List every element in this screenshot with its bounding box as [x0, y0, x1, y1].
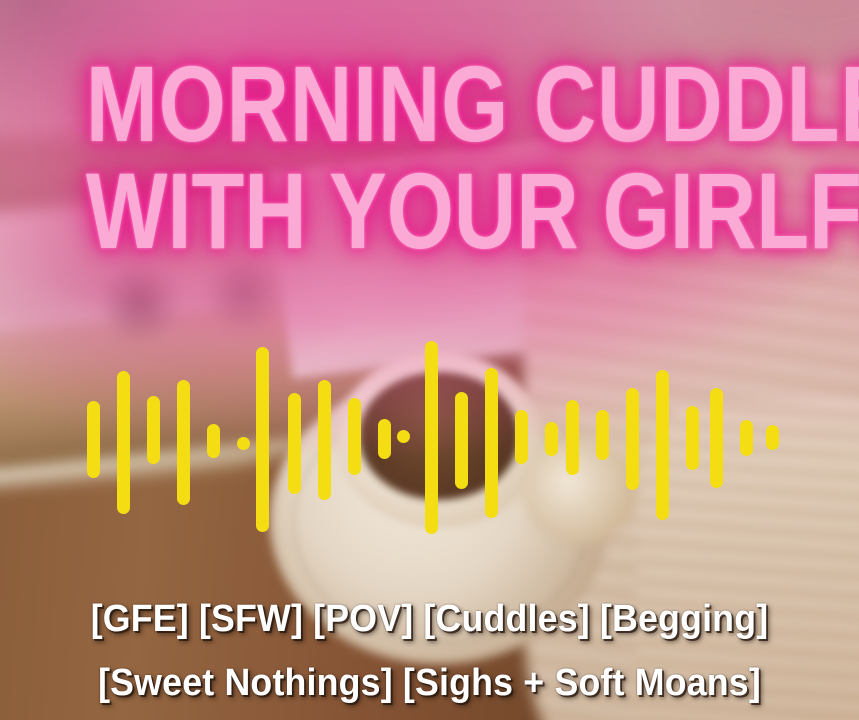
tag-line-2: [Sweet Nothings] [Sighs + Soft Moans]: [26, 664, 833, 702]
title-line-2: WITH YOUR GIRLFRIEND: [86, 161, 773, 260]
tag-list: [GFE] [SFW] [POV] [Cuddles] [Begging] [S…: [0, 600, 859, 702]
title-line-1: MORNING CUDDLES: [86, 54, 773, 153]
tag-line-1: [GFE] [SFW] [POV] [Cuddles] [Begging]: [26, 600, 833, 638]
cover-title: MORNING CUDDLES WITH YOUR GIRLFRIEND: [0, 54, 859, 261]
audio-cover-art: MORNING CUDDLES WITH YOUR GIRLFRIEND [GF…: [0, 0, 859, 720]
